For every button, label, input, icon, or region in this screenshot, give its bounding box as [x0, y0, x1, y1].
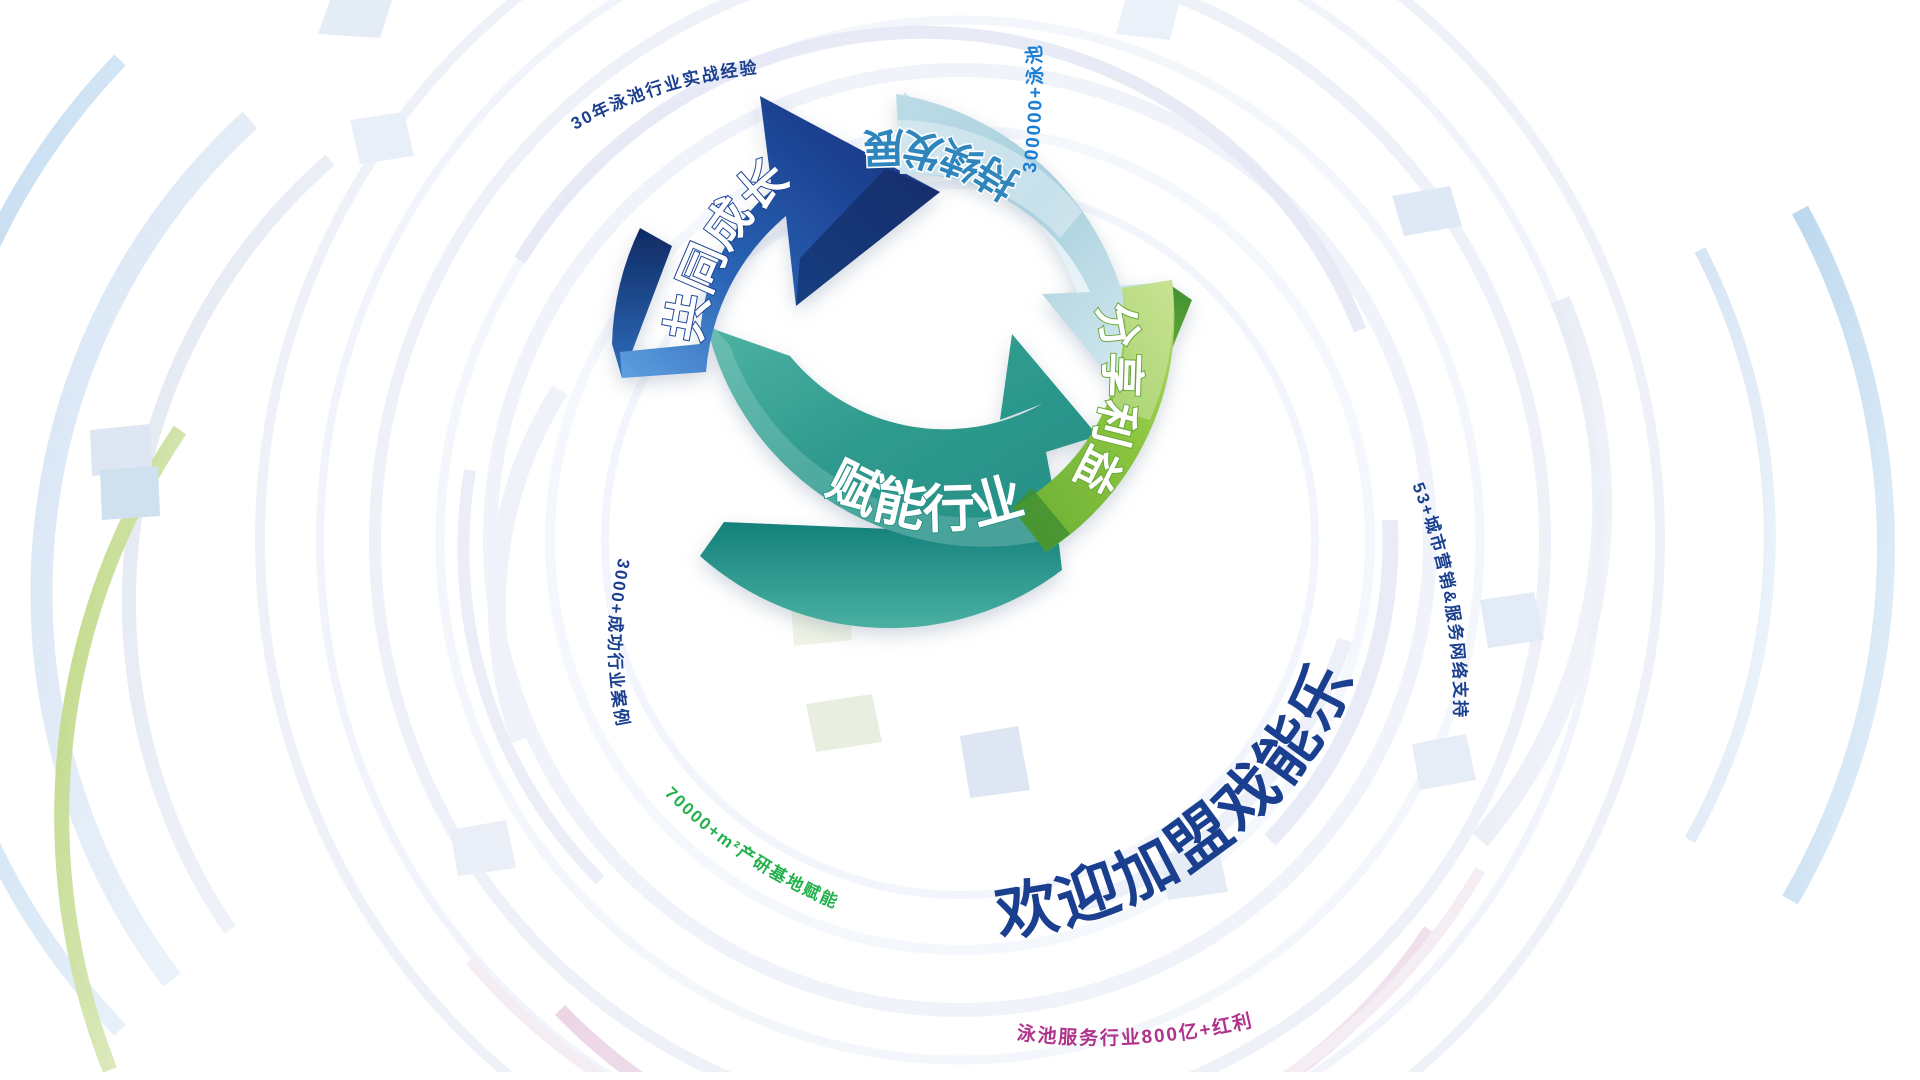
infographic-canvas: 共同成长 持续发展 分享利益 赋能行业 30年泳池行业实战经验: [0, 0, 1920, 1080]
headline-layer: 欢迎加盟戏能乐: [0, 0, 1920, 1080]
bottom-spacer: [0, 1072, 1920, 1080]
headline-join: 欢迎加盟戏能乐: [990, 650, 1369, 950]
